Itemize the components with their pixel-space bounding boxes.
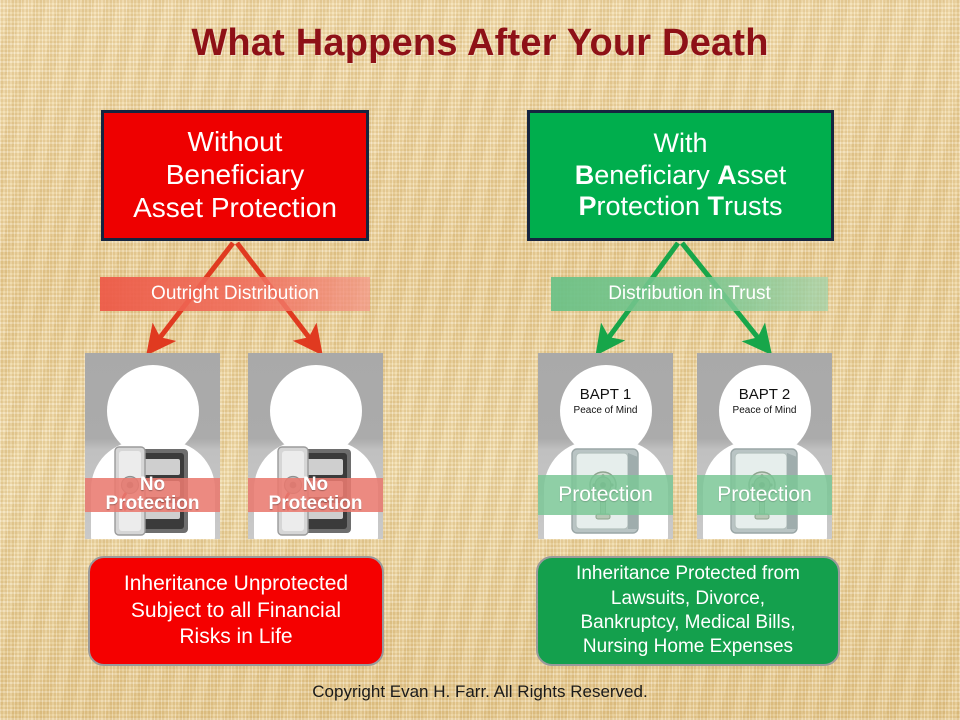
conclusion-green-line4: Nursing Home Expenses [576, 635, 800, 659]
status-band-protection [538, 475, 673, 515]
status-band-no-protection [248, 478, 383, 512]
copyright-footer: Copyright Evan H. Farr. All Rights Reser… [0, 682, 960, 702]
bapt-letter-b: B [575, 160, 595, 190]
figure-panel-unprotected-2: No Protection [248, 353, 383, 539]
header-without-line3: Asset Protection [133, 192, 337, 225]
page-title: What Happens After Your Death [0, 22, 960, 65]
head-label-bapt-2: BAPT 2 Peace of Mind [710, 387, 820, 417]
conclusion-red-line3: Risks in Life [124, 624, 348, 651]
bapt-2-title: BAPT 2 [710, 387, 820, 404]
header-with-line1: With [575, 128, 787, 160]
slide-canvas: What Happens After Your Death Without Be… [0, 0, 960, 720]
conclusion-green-line1: Inheritance Protected from [576, 562, 800, 586]
status-band-protection [697, 475, 832, 515]
header-box-with-bapt: With Beneficiary Asset Protection Trusts [527, 110, 834, 241]
header-with-line3: Protection Trusts [575, 191, 787, 223]
conclusion-red-line2: Subject to all Financial [124, 598, 348, 625]
header-without-line1: Without [133, 126, 337, 159]
header-with-line2: Beneficiary Asset [575, 160, 787, 192]
header-box-without-protection: Without Beneficiary Asset Protection [101, 110, 369, 241]
conclusion-box-protected: Inheritance Protected from Lawsuits, Div… [536, 556, 840, 666]
conclusion-green-line2: Lawsuits, Divorce, [576, 587, 800, 611]
figure-panel-bapt-1: BAPT 1 Peace of Mind Protection [538, 353, 673, 539]
bapt-letter-p: P [578, 191, 596, 221]
conclusion-red-line1: Inheritance Unprotected [124, 571, 348, 598]
band-outright-distribution: Outright Distribution [100, 277, 370, 311]
conclusion-box-unprotected: Inheritance Unprotected Subject to all F… [88, 556, 384, 666]
band-distribution-in-trust: Distribution in Trust [551, 277, 828, 311]
header-without-line2: Beneficiary [133, 159, 337, 192]
conclusion-green-line3: Bankruptcy, Medical Bills, [576, 611, 800, 635]
bapt-1-title: BAPT 1 [551, 387, 661, 404]
figure-panel-bapt-2: BAPT 2 Peace of Mind Protection [697, 353, 832, 539]
head-label-bapt-1: BAPT 1 Peace of Mind [551, 387, 661, 417]
bapt-1-subtitle: Peace of Mind [551, 405, 661, 418]
figure-panel-unprotected-1: No Protection [85, 353, 220, 539]
bapt-letter-a: A [717, 160, 737, 190]
bapt-2-subtitle: Peace of Mind [710, 405, 820, 418]
bapt-letter-t: T [708, 191, 725, 221]
status-band-no-protection [85, 478, 220, 512]
